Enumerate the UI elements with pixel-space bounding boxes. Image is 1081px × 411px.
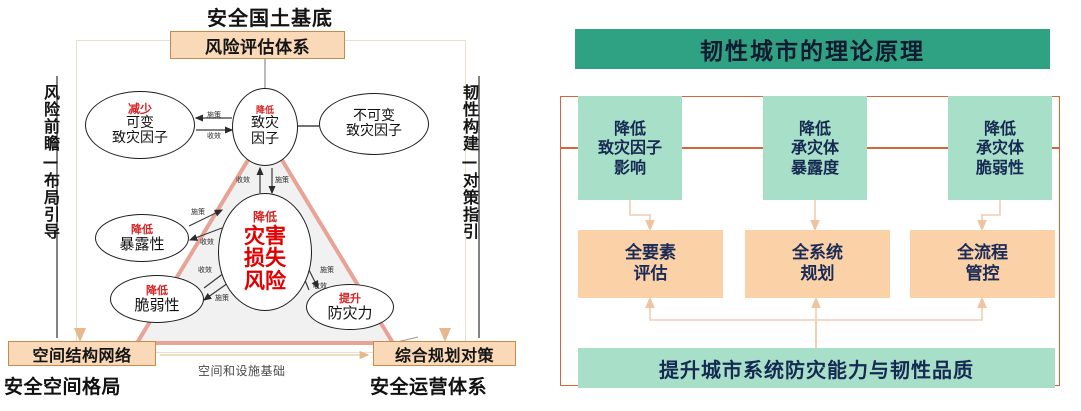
node-invariable-hazard[interactable]: 不可变 致灾因子 <box>319 93 429 155</box>
space-facility-basis-note: 空间和设施基础 <box>198 362 286 379</box>
node-fragility[interactable]: 降低 脆弱性 <box>110 275 204 323</box>
node-variable-hazard[interactable]: 减少 可变 致灾因子 <box>85 91 195 159</box>
node-exposure[interactable]: 降低 暴露性 <box>95 214 189 262</box>
reduce-exposure-box[interactable]: 降低 承灾体 暴露度 <box>763 96 867 200</box>
all-elements-assessment-box[interactable]: 全要素 评估 <box>578 230 723 298</box>
edge-label-policy: 施策 <box>320 265 334 275</box>
side-label-right: 韧性构建—对策指引 <box>461 84 477 240</box>
safe-spatial-pattern-caption: 安全空间格局 <box>4 372 121 399</box>
node-label: 防灾力 <box>327 305 372 322</box>
right-panel-title: 韧性城市的理论原理 <box>700 32 925 66</box>
node-label: 致灾 因子 <box>251 116 279 147</box>
safe-operation-system-caption: 安全运营体系 <box>370 372 487 399</box>
node-label: 灾害 损失 风险 <box>244 225 286 293</box>
side-label-left: 风险前瞻—布局引导 <box>42 84 58 240</box>
improve-resilience-bar[interactable]: 提升城市系统防灾能力与韧性品质 <box>578 348 1055 388</box>
node-tag: 降低 <box>131 224 153 236</box>
node-tag: 提升 <box>339 293 361 305</box>
risk-assessment-box[interactable]: 风险评估体系 <box>170 31 345 59</box>
right-panel-title-bar: 韧性城市的理论原理 <box>575 29 1050 69</box>
edge-label-policy: 施策 <box>275 175 289 185</box>
node-label: 暴露性 <box>119 236 164 253</box>
edge-label-policy: 施策 <box>207 110 221 120</box>
all-process-control-box[interactable]: 全流程 管控 <box>910 230 1055 298</box>
node-label: 不可变 致灾因子 <box>346 109 402 140</box>
edge-label-policy: 施策 <box>215 293 229 303</box>
right-diagram-panel: 韧性城市的理论原理 降低 致灾因子 影响 降低 承灾体 暴露度 降低 承灾体 脆… <box>540 0 1081 411</box>
all-system-planning-box[interactable]: 全系统 规划 <box>745 230 890 298</box>
reduce-hazard-impact-box[interactable]: 降低 致灾因子 影响 <box>578 96 682 200</box>
node-label: 脆弱性 <box>134 297 179 314</box>
edge-label-policy: 施策 <box>191 207 205 217</box>
node-tag: 降低 <box>146 285 168 297</box>
edge-label-effect: 收效 <box>200 237 214 247</box>
reduce-vulnerability-box[interactable]: 降低 承灾体 脆弱性 <box>948 96 1052 200</box>
space-structure-network-box[interactable]: 空间结构网络 <box>8 341 156 366</box>
node-tag: 降低 <box>253 211 277 224</box>
node-disaster-loss-risk[interactable]: 降低 灾害 损失 风险 <box>218 193 312 311</box>
edge-label-effect: 收效 <box>207 131 221 141</box>
edge-label-effect: 收效 <box>198 265 212 275</box>
node-hazard-factor[interactable]: 降低 致灾 因子 <box>232 88 298 166</box>
edge-label-effect: 收效 <box>236 175 250 185</box>
left-diagram-panel: 安全国土基底 <box>0 0 540 411</box>
edge-label-effect: 收效 <box>313 281 327 291</box>
comprehensive-planning-box[interactable]: 综合规划对策 <box>373 341 516 366</box>
node-label: 可变 致灾因子 <box>112 116 168 147</box>
left-panel-title: 安全国土基底 <box>0 2 540 31</box>
